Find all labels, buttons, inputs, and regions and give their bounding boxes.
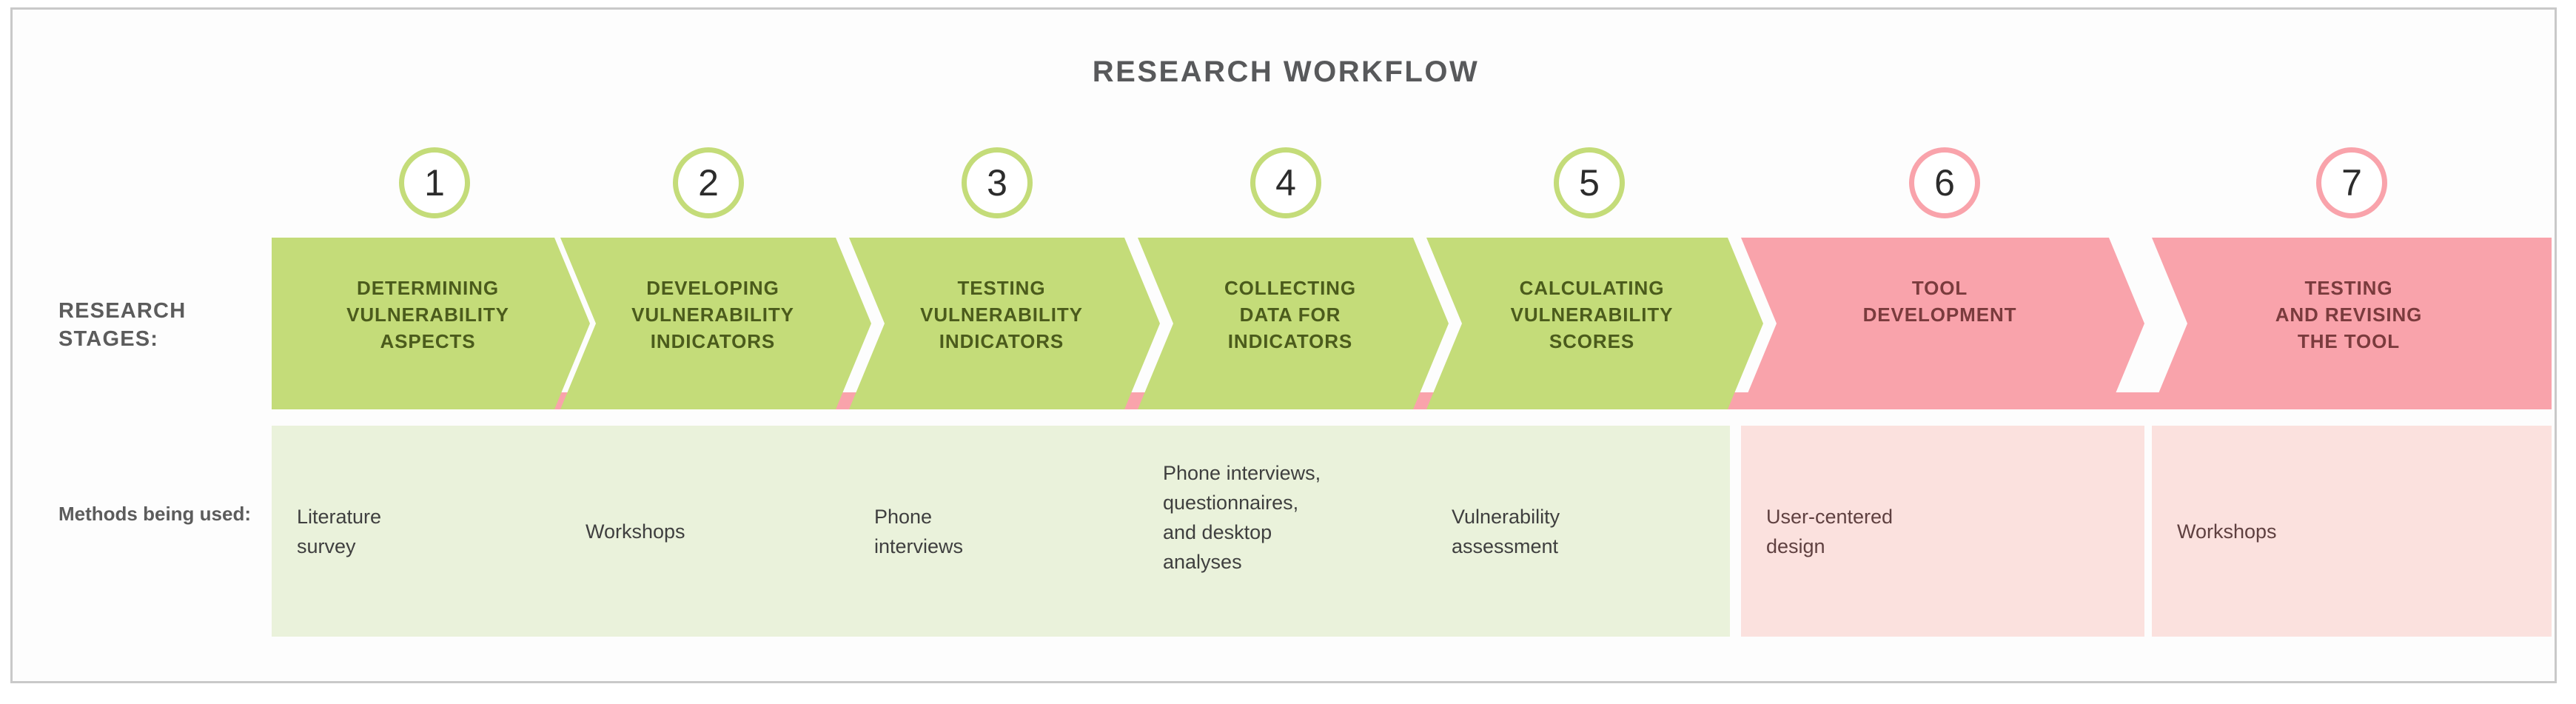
method-cell-5[interactable]: Vulnerability assessment (1426, 426, 1730, 637)
stage-1[interactable]: DETERMINING VULNERABILITY ASPECTS (272, 238, 590, 409)
stage-7[interactable]: TESTING AND REVISING THE TOOL (2152, 238, 2552, 409)
stage-label: TESTING VULNERABILITY INDICATORS (888, 275, 1116, 355)
method-label: Vulnerability assessment (1452, 502, 1560, 561)
method-cell-2[interactable]: Workshops (560, 426, 849, 637)
page-title: RESEARCH WORKFLOW (13, 56, 2559, 89)
method-cell-7[interactable]: Workshops (2152, 426, 2552, 637)
stage-4[interactable]: COLLECTING DATA FOR INDICATORS (1138, 238, 1449, 409)
method-cell-1[interactable]: Literature survey (272, 426, 560, 637)
stage-label: TESTING AND REVISING THE TOOL (2190, 275, 2507, 355)
stage-number-badge-4: 4 (1250, 147, 1321, 218)
method-label: Workshops (586, 517, 685, 546)
stage-6[interactable]: TOOL DEVELOPMENT (1741, 238, 2144, 409)
stage-number-badge-5: 5 (1554, 147, 1625, 218)
method-label: Phone interviews, questionnaires, and de… (1163, 458, 1321, 577)
stage-label: DETERMINING VULNERABILITY ASPECTS (310, 275, 546, 355)
diagram-frame: RESEARCH WORKFLOW RESEARCH STAGES: Metho… (10, 7, 2557, 683)
stage-number-badge-7: 7 (2316, 147, 2387, 218)
method-cell-4[interactable]: Phone interviews, questionnaires, and de… (1138, 426, 1426, 637)
method-label: Phone interviews (874, 502, 963, 561)
stage-band: DETERMINING VULNERABILITY ASPECTS1DEVELO… (264, 147, 2552, 421)
methods-being-used-label: Methods being used: (58, 500, 281, 528)
stage-label: TOOL DEVELOPMENT (1780, 275, 2100, 328)
stage-label: COLLECTING DATA FOR INDICATORS (1176, 275, 1404, 355)
method-cell-3[interactable]: Phone interviews (849, 426, 1138, 637)
stage-3[interactable]: TESTING VULNERABILITY INDICATORS (849, 238, 1160, 409)
method-label: User-centered design (1766, 502, 1893, 561)
stage-number-badge-6: 6 (1909, 147, 1980, 218)
method-label: Workshops (2177, 517, 2277, 546)
stage-number-badge-3: 3 (962, 147, 1033, 218)
stage-number-badge-2: 2 (673, 147, 744, 218)
method-label: Literature survey (297, 502, 381, 561)
stage-5[interactable]: CALCULATING VULNERABILITY SCORES (1426, 238, 1763, 409)
stage-label: CALCULATING VULNERABILITY SCORES (1465, 275, 1719, 355)
stage-label: DEVELOPING VULNERABILITY INDICATORS (599, 275, 827, 355)
methods-band: Literature surveyWorkshopsPhone intervie… (264, 426, 2552, 637)
research-stages-label: RESEARCH STAGES: (58, 297, 281, 353)
stage-2[interactable]: DEVELOPING VULNERABILITY INDICATORS (560, 238, 871, 409)
stage-number-badge-1: 1 (399, 147, 470, 218)
method-cell-6[interactable]: User-centered design (1741, 426, 2144, 637)
